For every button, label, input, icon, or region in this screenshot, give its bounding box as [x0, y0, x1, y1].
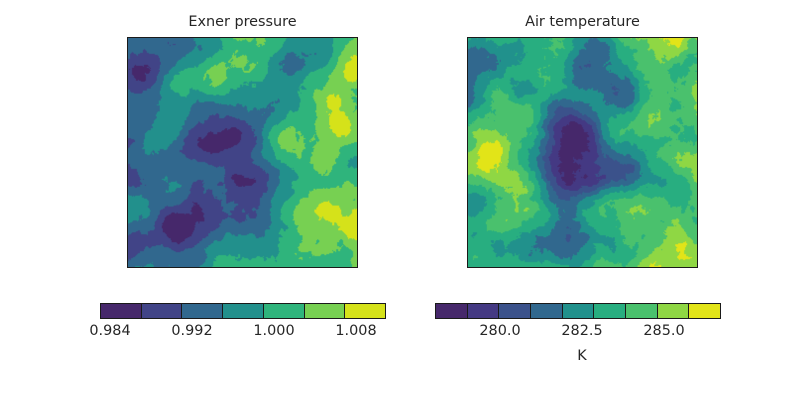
panel-title-air-temperature: Air temperature	[467, 14, 698, 30]
colorbar-segment-3	[530, 304, 562, 318]
colorbar-tick-label-1: 282.5	[561, 323, 602, 339]
colorbar-tick-label-0: 280.0	[479, 323, 520, 339]
colorbar-segment-8	[688, 304, 720, 318]
colorbar-tick-label-2: 285.0	[643, 323, 684, 339]
figure-canvas: Exner pressure 0.9840.9921.0001.008 Air …	[0, 0, 800, 400]
axes-air-temperature	[467, 37, 698, 268]
colorbar-segment-6	[625, 304, 657, 318]
colorbar-strip-air-temperature[interactable]	[435, 303, 721, 319]
colorbar-segment-7	[657, 304, 689, 318]
colorbar-segment-4	[562, 304, 594, 318]
colorbar-segment-1	[467, 304, 499, 318]
contour-field-air-temperature	[468, 38, 697, 267]
colorbar-segment-0	[436, 304, 467, 318]
colorbar-segment-5	[593, 304, 625, 318]
colorbar-segment-2	[498, 304, 530, 318]
panel-air-temperature: Air temperature 280.0282.5285.0 K	[0, 0, 800, 400]
colorbar-unit-label-air-temperature: K	[577, 348, 586, 364]
